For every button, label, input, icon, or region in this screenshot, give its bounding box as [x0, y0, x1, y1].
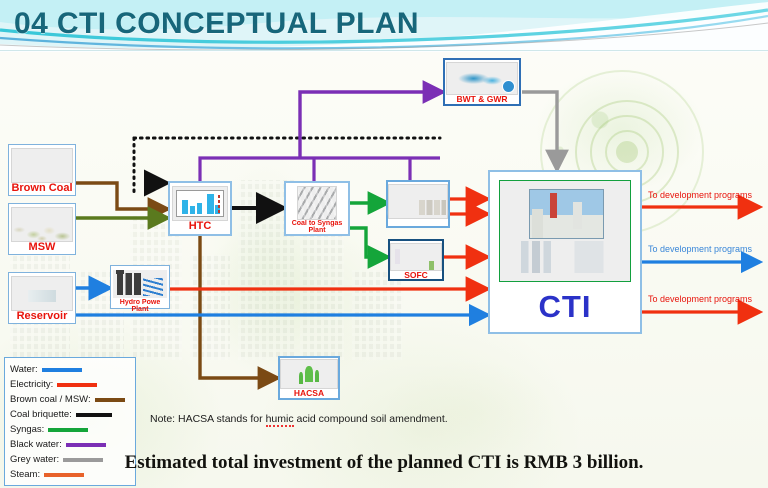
- legend-swatch-coal-briquette: [76, 413, 112, 417]
- soil-seedling-photo: [280, 359, 338, 389]
- water-treatment-photo: [446, 62, 518, 95]
- legend-swatch-syngas: [48, 428, 88, 432]
- legend-swatch-electricity: [57, 383, 97, 387]
- slide-canvas: 04 CTI CONCEPTUAL PLAN: [0, 0, 768, 488]
- legend-swatch-brown-coal-msw: [95, 398, 125, 402]
- output-label-2: To development programs: [648, 244, 752, 254]
- legend-swatch-black-water: [66, 443, 106, 447]
- legend-item-brown-coal-msw: Brown coal / MSW:: [10, 392, 130, 407]
- legend-label-water: Water:: [10, 364, 38, 375]
- reservoir-dam-photo: [11, 276, 73, 311]
- igcc-power-plant-photo: [388, 184, 448, 219]
- node-bwt-gwr[interactable]: BWT & GWR: [443, 58, 521, 106]
- municipal-solid-waste-photo: [11, 207, 73, 242]
- legend-label-syngas: Syngas:: [10, 424, 44, 435]
- node-hacsa[interactable]: HACSA: [278, 356, 340, 400]
- cti-plant-photo: [499, 180, 631, 282]
- node-hacsa-label: HACSA: [280, 389, 338, 398]
- node-msw-label: MSW: [9, 242, 75, 254]
- node-reservoir[interactable]: Reservoir: [8, 272, 76, 324]
- node-sofc[interactable]: SOFC: [388, 239, 444, 281]
- footnote-prefix: Note: HACSA stands for: [150, 413, 266, 425]
- node-msw[interactable]: MSW: [8, 203, 76, 255]
- footnote-suffix: acid compound soil amendment.: [294, 413, 448, 425]
- legend-item-water: Water:: [10, 362, 130, 377]
- node-hydro-power-plant-label: Hydro Powe Plant: [111, 299, 169, 314]
- output-label-3: To development programs: [648, 294, 752, 304]
- node-hydro-power-plant[interactable]: Hydro Powe Plant: [110, 265, 170, 309]
- node-htc-label: HTC: [170, 221, 230, 233]
- node-coal-to-syngas-plant[interactable]: Coal to Syngas Plant: [284, 181, 350, 236]
- node-reservoir-label: Reservoir: [9, 311, 75, 323]
- node-sofc-label: SOFC: [390, 271, 442, 280]
- coal-pile-photo: [11, 148, 73, 183]
- legend-label-brown-coal-msw: Brown coal / MSW:: [10, 394, 91, 405]
- legend-item-black-water: Black water:: [10, 437, 130, 452]
- node-cti[interactable]: CTI: [488, 170, 642, 334]
- total-investment-statement: Estimated total investment of the planne…: [0, 452, 768, 474]
- node-bwt-gwr-label: BWT & GWR: [445, 95, 519, 104]
- node-coal-to-syngas-plant-label: Coal to Syngas Plant: [286, 220, 348, 235]
- footnote: Note: HACSA stands for humic acid compou…: [150, 413, 448, 425]
- output-label-1: To development programs: [648, 190, 752, 200]
- legend-label-coal-briquette: Coal briquette:: [10, 409, 72, 420]
- node-htc[interactable]: HTC: [168, 181, 232, 236]
- legend-label-electricity: Electricity:: [10, 379, 53, 390]
- htc-chart-icon: [172, 186, 228, 221]
- node-brown-coal[interactable]: Brown Coal: [8, 144, 76, 196]
- recycle-badge-icon: [502, 80, 515, 93]
- hydro-power-plant-icon: [112, 269, 168, 299]
- syngas-plant-photo: [297, 186, 337, 220]
- legend-swatch-water: [42, 368, 82, 372]
- legend-item-coal-briquette: Coal briquette:: [10, 407, 130, 422]
- node-igcc-power-plant[interactable]: IGCC Power Plant: [386, 180, 450, 228]
- footnote-underlined-word: humic: [266, 413, 294, 427]
- sofc-plant-photo: [390, 243, 442, 271]
- legend-item-syngas: Syngas:: [10, 422, 130, 437]
- legend-item-electricity: Electricity:: [10, 377, 130, 392]
- node-cti-label: CTI: [490, 282, 640, 332]
- node-brown-coal-label: Brown Coal: [9, 183, 75, 195]
- legend-label-black-water: Black water:: [10, 439, 62, 450]
